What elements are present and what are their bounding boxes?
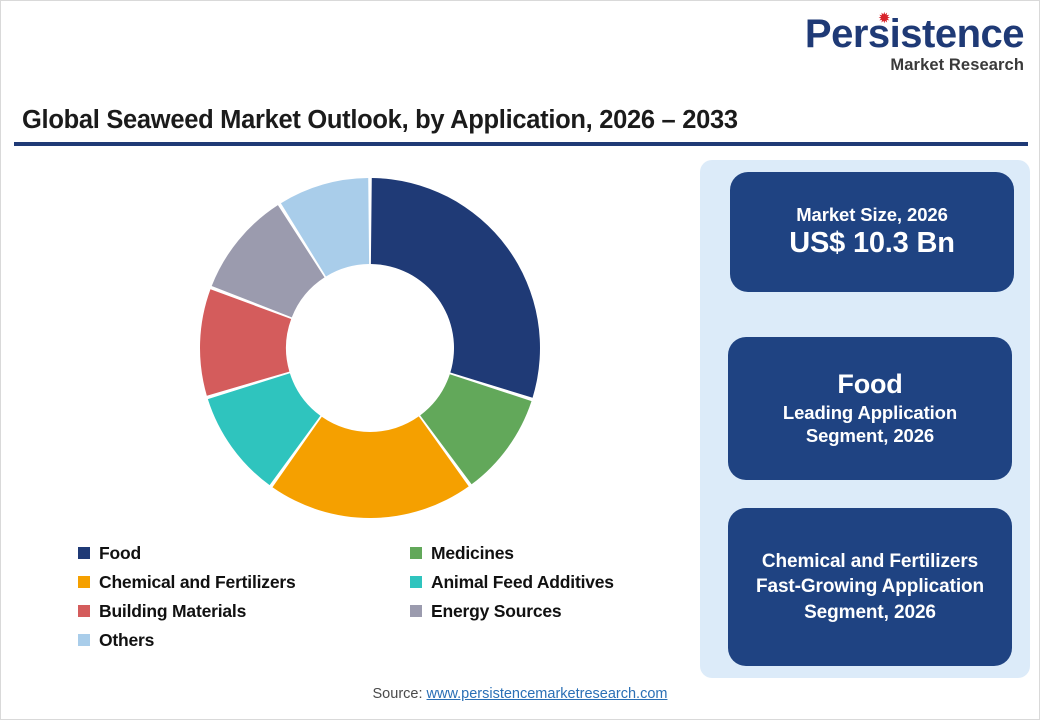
legend-label-building-materials: Building Materials [99,601,246,622]
brand-name: Persistence [805,14,1024,54]
leading-segment-caption-line2: Segment, 2026 [806,424,934,447]
legend-swatch-energy-sources [410,605,422,617]
brand-logo: Persistence ✹ Market Research [782,14,1024,74]
star-icon: ✹ [878,11,891,26]
fast-growing-segment-card[interactable]: Chemical and Fertilizers Fast-Growing Ap… [728,508,1012,666]
market-size-card[interactable]: Market Size, 2026 US$ 10.3 Bn [730,172,1014,292]
legend-item-animal-feed-additives[interactable]: Animal Feed Additives [410,572,678,593]
legend-item-chemical-and-fertilizers[interactable]: Chemical and Fertilizers [78,572,410,593]
source-label: Source: [373,686,427,702]
legend-label-food: Food [99,543,141,564]
fast-growing-caption-line1: Fast-Growing Application [756,574,984,600]
legend-row: FoodMedicines [78,540,678,566]
legend-swatch-animal-feed-additives [410,576,422,588]
infographic-page: Persistence ✹ Market Research Global Sea… [0,0,1040,720]
legend-label-energy-sources: Energy Sources [431,601,561,622]
legend-item-others[interactable]: Others [78,630,410,651]
donut-chart-svg [190,165,552,531]
legend-swatch-chemical-and-fertilizers [78,576,90,588]
legend-swatch-others [78,634,90,646]
legend-item-food[interactable]: Food [78,543,410,564]
legend-row: Building MaterialsEnergy Sources [78,598,678,624]
market-size-value: US$ 10.3 Bn [789,226,954,261]
source-link[interactable]: www.persistencemarketresearch.com [427,686,668,702]
legend-item-medicines[interactable]: Medicines [410,543,678,564]
brand-tagline: Market Research [782,57,1024,74]
legend-swatch-building-materials [78,605,90,617]
chart-legend: FoodMedicinesChemical and FertilizersAni… [78,540,678,656]
legend-label-medicines: Medicines [431,543,514,564]
leading-segment-caption-line1: Leading Application [783,401,957,424]
legend-label-animal-feed-additives: Animal Feed Additives [431,572,614,593]
highlights-panel: Market Size, 2026 US$ 10.3 Bn Food Leadi… [700,160,1030,678]
page-title: Global Seaweed Market Outlook, by Applic… [22,106,738,135]
legend-label-chemical-and-fertilizers: Chemical and Fertilizers [99,572,296,593]
legend-item-energy-sources[interactable]: Energy Sources [410,601,678,622]
legend-item-building-materials[interactable]: Building Materials [78,601,410,622]
donut-chart [190,165,552,531]
leading-segment-card[interactable]: Food Leading Application Segment, 2026 [728,337,1012,480]
legend-row: Chemical and FertilizersAnimal Feed Addi… [78,569,678,595]
title-divider [14,142,1028,146]
legend-row: Others [78,627,678,653]
leading-segment-name: Food [837,369,902,401]
fast-growing-caption-line2: Segment, 2026 [804,600,936,626]
legend-swatch-food [78,547,90,559]
legend-swatch-medicines [410,547,422,559]
legend-label-others: Others [99,630,154,651]
fast-growing-segment-name: Chemical and Fertilizers [762,549,978,575]
donut-slice-food[interactable] [371,178,540,398]
source-line: Source: www.persistencemarketresearch.co… [0,686,1040,702]
market-size-label: Market Size, 2026 [796,203,948,226]
